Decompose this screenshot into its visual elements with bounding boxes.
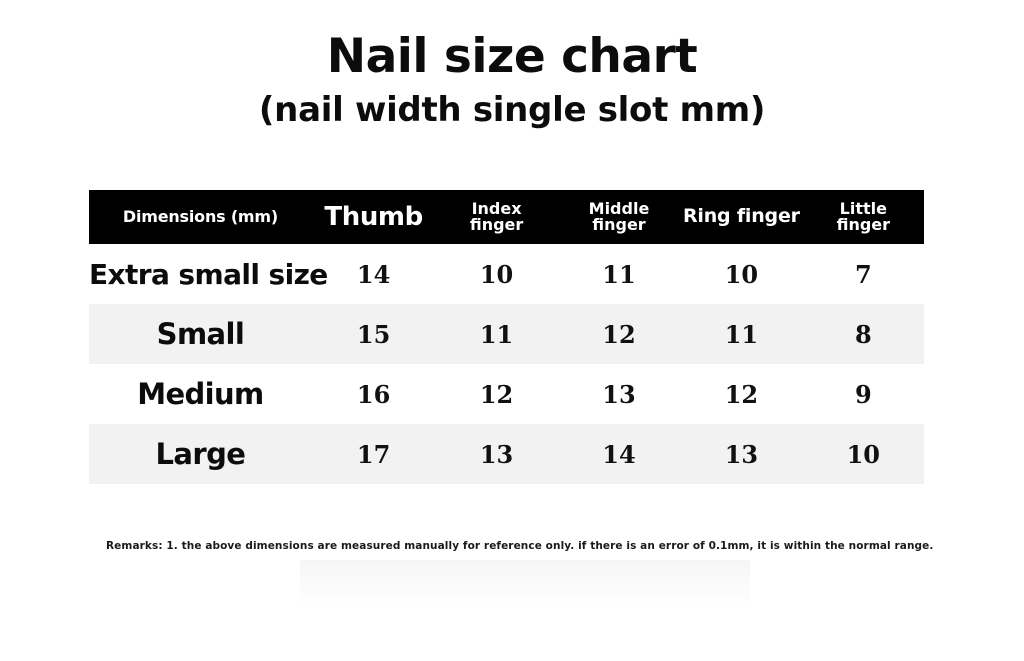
column-header-dimensions: Dimensions (mm)	[89, 190, 312, 244]
remarks-note: Remarks: 1. the above dimensions are mea…	[106, 540, 936, 552]
cell-thumb: 15	[312, 304, 435, 364]
cell-little-finger: 10	[803, 424, 924, 484]
cell-middle-finger: 14	[558, 424, 680, 484]
row-label-medium: Medium	[89, 364, 312, 424]
cell-middle-finger: 11	[558, 244, 680, 304]
background-artifact	[300, 560, 750, 608]
nail-size-table: Dimensions (mm) Thumb Index finger Middl…	[89, 190, 924, 484]
cell-middle-finger: 12	[558, 304, 680, 364]
cell-ring-finger: 13	[680, 424, 802, 484]
cell-index-finger: 11	[435, 304, 557, 364]
column-header-ring-finger: Ring finger	[680, 190, 802, 244]
title-block: Nail size chart (nail width single slot …	[0, 32, 1024, 129]
cell-thumb: 16	[312, 364, 435, 424]
cell-ring-finger: 10	[680, 244, 802, 304]
column-header-index-finger: Index finger	[435, 190, 557, 244]
cell-little-finger: 8	[803, 304, 924, 364]
cell-ring-finger: 11	[680, 304, 802, 364]
row-label-extra-small: Extra small size	[89, 244, 312, 304]
table-row: Large 17 13 14 13 10	[89, 424, 924, 484]
table-row: Small 15 11 12 11 8	[89, 304, 924, 364]
cell-little-finger: 7	[803, 244, 924, 304]
cell-ring-finger: 12	[680, 364, 802, 424]
column-header-middle-finger: Middle finger	[558, 190, 680, 244]
page-subtitle: (nail width single slot mm)	[0, 91, 1024, 129]
table-body: Extra small size 14 10 11 10 7 Small 15 …	[89, 244, 924, 484]
table-row: Extra small size 14 10 11 10 7	[89, 244, 924, 304]
column-header-thumb: Thumb	[312, 190, 435, 244]
table-header: Dimensions (mm) Thumb Index finger Middl…	[89, 190, 924, 244]
cell-index-finger: 10	[435, 244, 557, 304]
cell-middle-finger: 13	[558, 364, 680, 424]
row-label-small: Small	[89, 304, 312, 364]
row-label-large: Large	[89, 424, 312, 484]
table-row: Medium 16 12 13 12 9	[89, 364, 924, 424]
cell-thumb: 14	[312, 244, 435, 304]
table-header-row: Dimensions (mm) Thumb Index finger Middl…	[89, 190, 924, 244]
cell-index-finger: 13	[435, 424, 557, 484]
column-header-little-finger: Little finger	[803, 190, 924, 244]
cell-little-finger: 9	[803, 364, 924, 424]
page-title: Nail size chart	[0, 32, 1024, 83]
cell-thumb: 17	[312, 424, 435, 484]
cell-index-finger: 12	[435, 364, 557, 424]
